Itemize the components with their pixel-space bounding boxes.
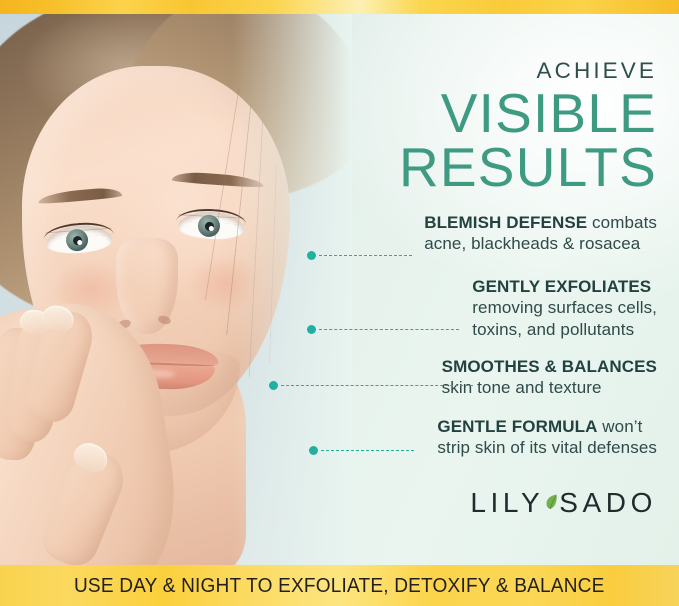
connector-dash xyxy=(319,329,459,330)
connector-dot-icon xyxy=(269,381,278,390)
connector-line-4 xyxy=(309,446,414,455)
product-advertisement: ACHIEVE VISIBLE RESULTS BLEMISH DEFENSE … xyxy=(0,0,679,606)
bottom-banner: USE DAY & NIGHT TO EXFOLIATE, DETOXIFY &… xyxy=(0,565,679,606)
connector-line-1 xyxy=(307,251,412,260)
headline-kicker: ACHIEVE xyxy=(259,14,657,84)
connector-dot-icon xyxy=(307,251,316,260)
banner-text: USE DAY & NIGHT TO EXFOLIATE, DETOXIFY &… xyxy=(74,574,605,598)
copy-column: ACHIEVE VISIBLE RESULTS xyxy=(259,14,679,565)
connector-dash xyxy=(319,255,412,256)
eye-glint-right xyxy=(209,226,214,231)
connector-dot-icon xyxy=(307,325,316,334)
eye-glint-left xyxy=(77,240,82,245)
connector-line-3 xyxy=(269,381,473,390)
connector-dash xyxy=(281,385,473,386)
connector-dot-icon xyxy=(309,446,318,455)
headline-line-1: VISIBLE xyxy=(259,87,657,141)
connector-dash xyxy=(321,450,414,451)
page-title: VISIBLE RESULTS xyxy=(259,84,657,195)
connector-line-2 xyxy=(307,325,459,334)
headline-line-2: RESULTS xyxy=(259,141,657,195)
top-yellow-strip xyxy=(0,0,679,14)
